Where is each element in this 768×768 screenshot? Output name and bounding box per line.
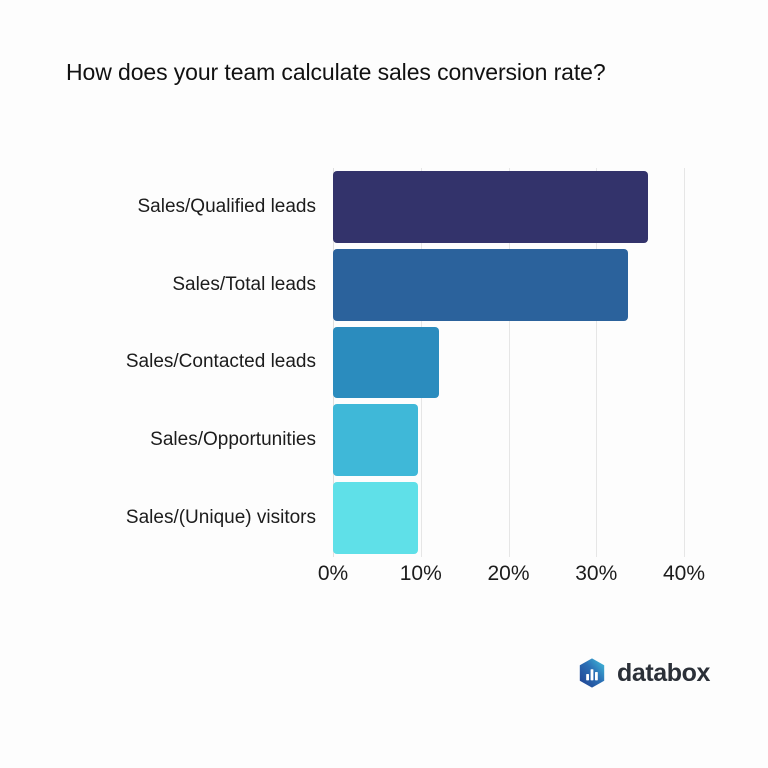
bar-row [333, 168, 684, 246]
databox-hexagon-bars-logo-icon [576, 657, 608, 689]
bar-row [333, 479, 684, 557]
bar-series [333, 168, 684, 557]
y-axis-label: Sales/Opportunities [0, 401, 316, 479]
bar[interactable] [333, 404, 418, 476]
bar-row [333, 246, 684, 324]
x-axis-tick-label: 30% [575, 562, 617, 586]
bar[interactable] [333, 249, 628, 321]
bar-row [333, 324, 684, 402]
y-axis-label: Sales/(Unique) visitors [0, 479, 316, 557]
y-axis-label: Sales/Qualified leads [0, 168, 316, 246]
y-axis-category-labels: Sales/Qualified leadsSales/Total leadsSa… [0, 168, 316, 557]
chart-canvas: How does your team calculate sales conve… [0, 0, 768, 768]
databox-logo: databox [576, 657, 710, 689]
gridline-40% [684, 168, 685, 557]
databox-wordmark: databox [617, 657, 710, 689]
x-axis-tick-label: 0% [318, 562, 348, 586]
x-axis-tick-labels: 0%10%20%30%40% [333, 562, 684, 592]
bar[interactable] [333, 171, 648, 243]
x-axis-tick-label: 10% [400, 562, 442, 586]
chart-title: How does your team calculate sales conve… [66, 58, 606, 86]
x-axis-tick-label: 40% [663, 562, 705, 586]
y-axis-label: Sales/Total leads [0, 246, 316, 324]
bar[interactable] [333, 327, 439, 399]
x-axis-tick-label: 20% [487, 562, 529, 586]
bar[interactable] [333, 482, 418, 554]
bar-row [333, 401, 684, 479]
y-axis-label: Sales/Contacted leads [0, 324, 316, 402]
